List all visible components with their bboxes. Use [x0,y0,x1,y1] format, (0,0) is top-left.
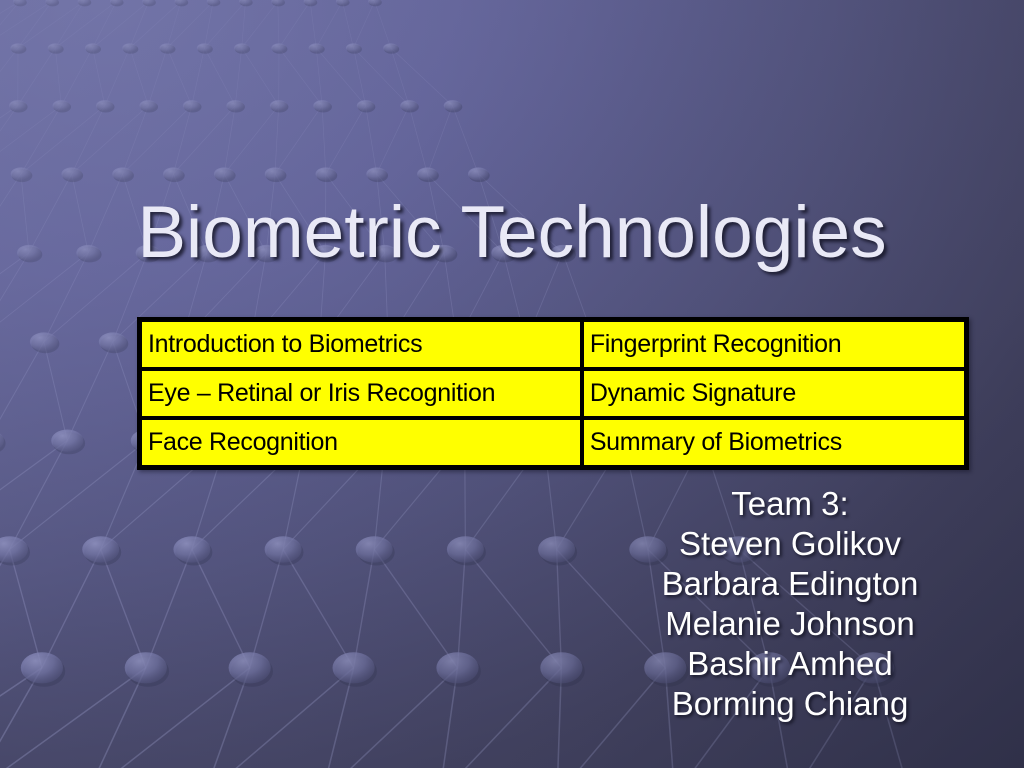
topics-table: Introduction to Biometrics Fingerprint R… [137,317,969,470]
table-cell-topic[interactable]: Dynamic Signature [582,369,966,418]
presentation-slide: Biometric Technologies Introduction to B… [0,0,1024,768]
table-cell-topic[interactable]: Introduction to Biometrics [140,320,582,369]
table-cell-topic[interactable]: Fingerprint Recognition [582,320,966,369]
team-heading: Team 3: [588,484,992,524]
table-row: Face Recognition Summary of Biometrics [140,418,966,467]
table-cell-topic[interactable]: Summary of Biometrics [582,418,966,467]
table-cell-topic[interactable]: Face Recognition [140,418,582,467]
table-row: Eye – Retinal or Iris Recognition Dynami… [140,369,966,418]
team-member-name: Bashir Amhed [588,644,992,684]
team-member-name: Steven Golikov [588,524,992,564]
table-cell-topic[interactable]: Eye – Retinal or Iris Recognition [140,369,582,418]
slide-title: Biometric Technologies [0,191,1024,274]
team-member-name: Borming Chiang [588,684,992,724]
table-row: Introduction to Biometrics Fingerprint R… [140,320,966,369]
team-credits: Team 3: Steven Golikov Barbara Edington … [588,484,992,724]
team-member-name: Barbara Edington [588,564,992,604]
team-member-name: Melanie Johnson [588,604,992,644]
